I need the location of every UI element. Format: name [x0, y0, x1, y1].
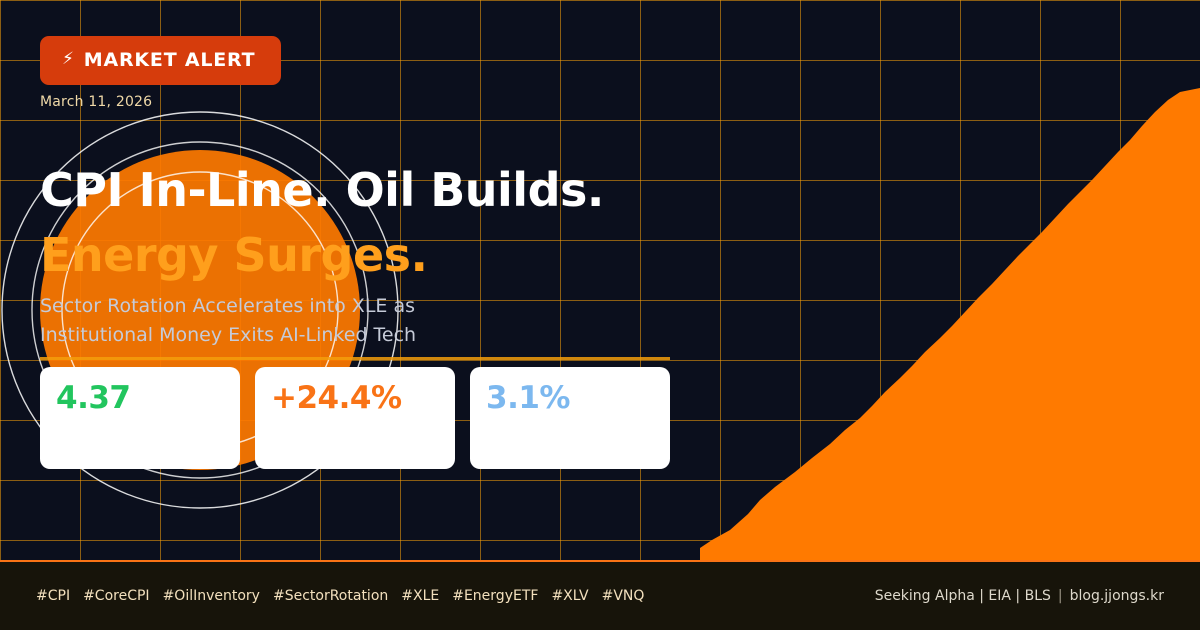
- publish-date: March 11, 2026: [40, 94, 152, 110]
- hashtag: #OilInventory: [163, 588, 260, 604]
- hashtag: #VNQ: [602, 588, 645, 604]
- hashtag: #CPI: [36, 588, 70, 604]
- site-url: blog.jjongs.kr: [1070, 588, 1164, 604]
- footer-bar: #CPI #CoreCPI #OilInventory #SectorRotat…: [0, 560, 1200, 630]
- stat-card: 3.1%: [470, 367, 670, 469]
- headline-line-1: CPI In-Line. Oil Builds.: [40, 158, 760, 223]
- hashtag: #SectorRotation: [273, 588, 388, 604]
- source-separator: |: [1058, 588, 1063, 604]
- content-layer: ⚡ MARKET ALERT March 11, 2026 CPI In-Lin…: [0, 0, 1200, 560]
- lightning-bolt-icon: ⚡: [62, 51, 75, 68]
- hashtag: #XLE: [401, 588, 439, 604]
- subtitle: Sector Rotation Accelerates into XLE as …: [40, 292, 510, 351]
- headline: CPI In-Line. Oil Builds. Energy Surges.: [40, 158, 760, 289]
- section-divider: [40, 357, 670, 360]
- stat-value: +24.4%: [271, 381, 439, 415]
- hashtag: #XLV: [551, 588, 588, 604]
- source-attribution: Seeking Alpha | EIA | BLS | blog.jjongs.…: [875, 588, 1164, 604]
- stat-card-group: 4.37 +24.4% 3.1%: [40, 367, 670, 469]
- stat-value: 4.37: [56, 381, 224, 415]
- hashtag: #CoreCPI: [83, 588, 149, 604]
- stat-card: +24.4%: [255, 367, 455, 469]
- stat-card: 4.37: [40, 367, 240, 469]
- source-list: Seeking Alpha | EIA | BLS: [875, 588, 1051, 604]
- stat-value: 3.1%: [486, 381, 654, 415]
- market-alert-graphic: ⚡ MARKET ALERT March 11, 2026 CPI In-Lin…: [0, 0, 1200, 630]
- market-alert-badge: ⚡ MARKET ALERT: [40, 36, 281, 85]
- hashtag-list: #CPI #CoreCPI #OilInventory #SectorRotat…: [36, 588, 644, 604]
- hashtag: #EnergyETF: [452, 588, 538, 604]
- headline-line-2: Energy Surges.: [40, 223, 760, 288]
- market-alert-badge-label: MARKET ALERT: [84, 49, 256, 71]
